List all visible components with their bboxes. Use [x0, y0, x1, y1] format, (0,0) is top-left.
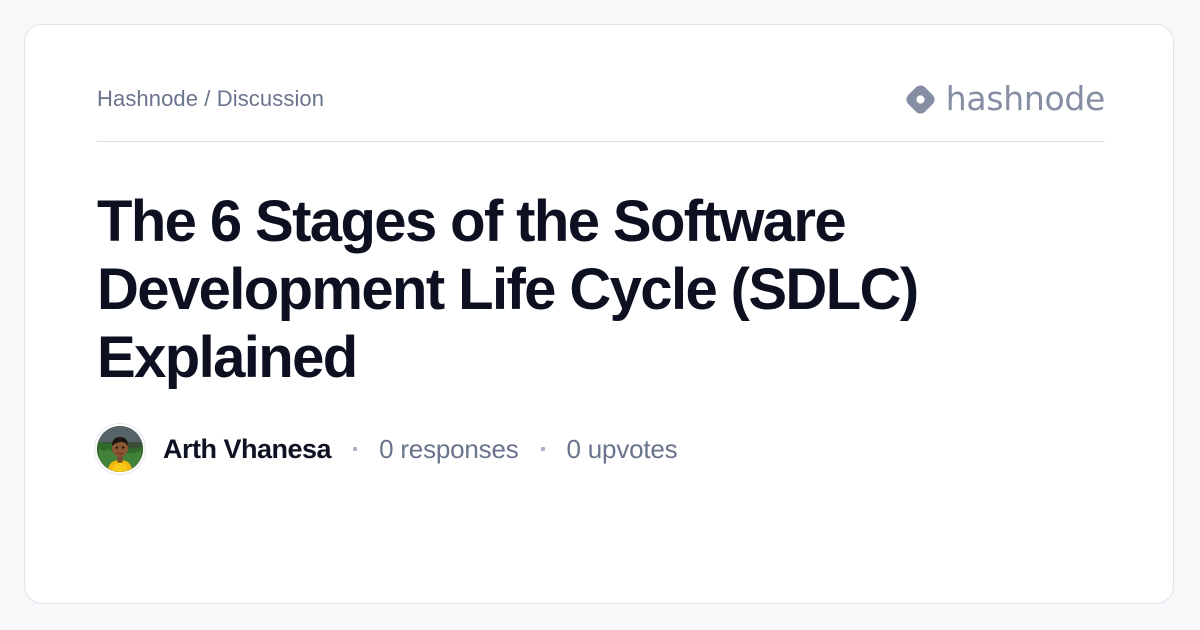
- breadcrumb[interactable]: Hashnode / Discussion: [97, 85, 324, 113]
- page-title: The 6 Stages of the Software Development…: [97, 142, 997, 392]
- card-header: Hashnode / Discussion hashnode: [97, 73, 1105, 125]
- open-graph-card: Hashnode / Discussion hashnode The 6 Sta…: [24, 24, 1174, 604]
- responses-count: 0 responses: [379, 433, 518, 465]
- hashnode-brand[interactable]: hashnode: [906, 82, 1105, 116]
- hashnode-diamond-logo-icon: [906, 85, 935, 114]
- avatar[interactable]: [97, 426, 143, 472]
- post-meta-row: Arth Vhanesa 0 responses 0 upvotes: [97, 392, 1105, 472]
- author-name[interactable]: Arth Vhanesa: [163, 433, 331, 465]
- meta-separator-dot: [353, 447, 357, 451]
- meta-separator-dot: [541, 447, 545, 451]
- card-content: Hashnode / Discussion hashnode The 6 Sta…: [97, 73, 1105, 557]
- hashnode-wordmark: hashnode: [946, 82, 1105, 116]
- upvotes-count: 0 upvotes: [567, 433, 678, 465]
